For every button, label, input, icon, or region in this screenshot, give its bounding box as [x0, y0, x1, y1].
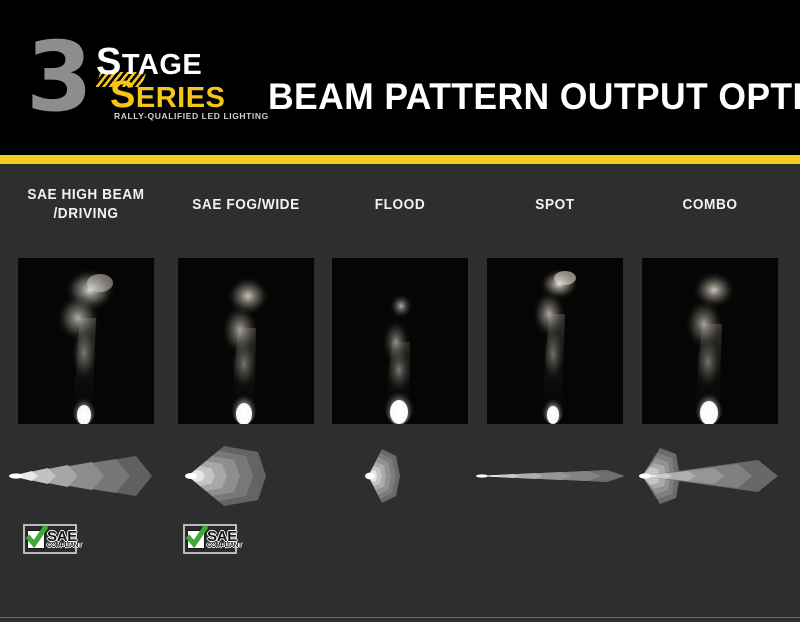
sae-badge-main: SAE [207, 529, 242, 544]
bottom-divider [0, 617, 800, 618]
beam-diagram-artwork [320, 444, 480, 508]
check-icon [187, 530, 205, 549]
beam-diagram-artwork [6, 444, 166, 508]
column-sae-high-beam-driving: SAE HIGH BEAM /DRIVING [18, 164, 154, 594]
logo-series-rest: ERIES [136, 82, 226, 114]
sae-badge-wrap-2: SAE COMPLIANT [178, 524, 314, 558]
page-title: BEAM PATTERN OUTPUT OPTIONS [268, 76, 761, 118]
beam-photo-artwork [642, 258, 778, 424]
check-icon [27, 530, 45, 549]
sae-badge-main: SAE [47, 529, 82, 544]
sae-compliant-badge: SAE COMPLIANT [183, 524, 237, 554]
column-spot: SPOT [487, 164, 623, 594]
logo-tagline: RALLY-QUALIFIED LED LIGHTING [114, 111, 269, 121]
beam-diagram-spot [475, 444, 635, 508]
column-label-combo: COMBO [635, 196, 785, 215]
column-label-line2: /DRIVING [53, 206, 118, 222]
beam-photo-flood [332, 258, 468, 424]
column-label-sae-fog-wide: SAE FOG/WIDE [171, 196, 321, 215]
column-label-line1: SPOT [535, 197, 574, 213]
sae-compliant-badge: SAE COMPLIANT [23, 524, 77, 554]
beam-photo-artwork [487, 258, 623, 424]
beam-photo-artwork [332, 258, 468, 424]
sae-badge-sub: COMPLIANT [47, 543, 82, 549]
beam-diagram-artwork [630, 444, 790, 508]
beam-photo-spot [487, 258, 623, 424]
column-flood: FLOOD [332, 164, 468, 594]
beam-pattern-infographic: 3 STAGE SERIES RALLY-QUALIFIED LED LIGHT… [0, 0, 800, 622]
column-label-line1: FLOOD [375, 197, 426, 213]
beam-photo-combo [642, 258, 778, 424]
beam-diagram-flood [320, 444, 480, 508]
column-label-line1: COMBO [682, 197, 737, 213]
column-combo: COMBO [642, 164, 778, 594]
beam-photo-artwork [18, 258, 154, 424]
accent-divider [0, 155, 800, 164]
beam-photo-artwork [178, 258, 314, 424]
column-label-flood: FLOOD [325, 196, 475, 215]
beam-diagram-artwork [475, 444, 635, 508]
column-label-line1: SAE FOG/WIDE [192, 197, 299, 213]
stage-series-logo: 3 STAGE SERIES RALLY-QUALIFIED LED LIGHT… [26, 33, 238, 125]
sae-badge-text: SAE COMPLIANT [207, 529, 242, 549]
beam-diagram-artwork [166, 444, 326, 508]
beam-diagram-sae-fog-wide [166, 444, 326, 508]
column-label-spot: SPOT [480, 196, 630, 215]
sae-badge-text: SAE COMPLIANT [47, 529, 82, 549]
beam-diagram-combo [630, 444, 790, 508]
column-sae-fog-wide: SAE FOG/WIDE [178, 164, 314, 594]
beam-photo-sae-fog-wide [178, 258, 314, 424]
beam-photo-sae-high-beam-driving [18, 258, 154, 424]
header-bar: 3 STAGE SERIES RALLY-QUALIFIED LED LIGHT… [0, 0, 800, 155]
column-label-sae-high-beam-driving: SAE HIGH BEAM /DRIVING [11, 186, 161, 224]
sae-badge-wrap-1: SAE COMPLIANT [18, 524, 154, 558]
sae-badge-sub: COMPLIANT [207, 543, 242, 549]
column-label-line1: SAE HIGH BEAM [27, 187, 144, 203]
beam-diagram-sae-high-beam-driving [6, 444, 166, 508]
logo-series-cap: S [110, 74, 136, 116]
